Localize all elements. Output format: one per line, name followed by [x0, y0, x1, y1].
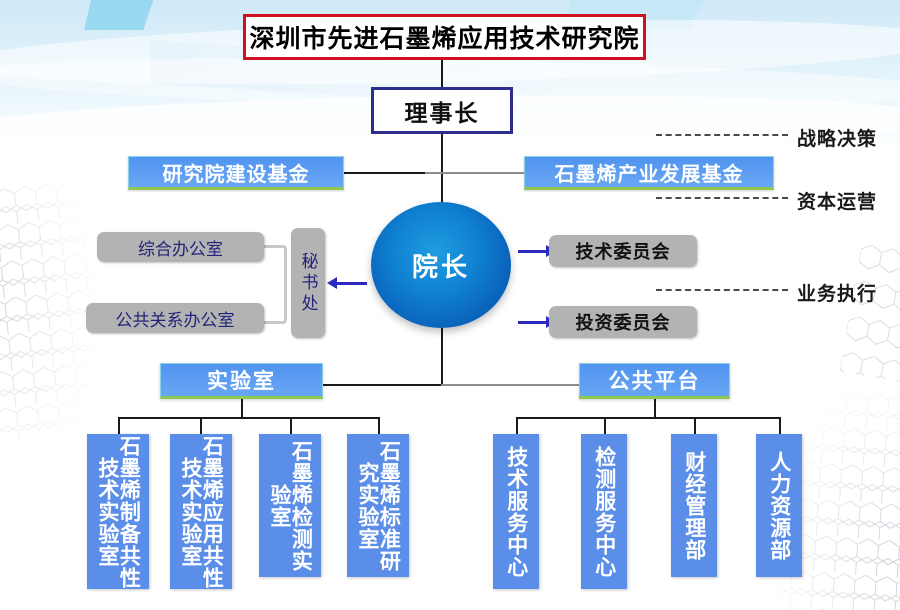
divider-strategy — [656, 134, 788, 136]
connector-dean-down — [441, 328, 443, 384]
node-secretariat[interactable]: 秘书处 — [291, 228, 325, 338]
connector-lab-child-4 — [378, 417, 380, 434]
label-capital-operation: 资本运营 — [797, 187, 877, 214]
connector-lab-child-2 — [200, 417, 202, 434]
node-laboratory[interactable]: 实验室 — [160, 363, 323, 399]
node-chairman[interactable]: 理事长 — [371, 87, 513, 134]
node-lab-unit-4[interactable]: 石墨烯标准研究实验室 — [347, 434, 409, 577]
node-platform-unit-3[interactable]: 财经管理部 — [671, 434, 717, 577]
connector-platform-stem — [654, 399, 656, 417]
connector-chairman-dean — [441, 134, 443, 204]
connector-platform-child-2 — [604, 417, 606, 434]
label-strategy-decision: 战略决策 — [797, 124, 877, 151]
node-investment-committee[interactable]: 投资委员会 — [549, 306, 697, 338]
node-graphene-industry-fund[interactable]: 石墨烯产业发展基金 — [524, 156, 774, 190]
node-dean[interactable]: 院长 — [371, 202, 511, 328]
node-public-relations-office[interactable]: 公共关系办公室 — [86, 303, 264, 333]
node-general-office[interactable]: 综合办公室 — [97, 232, 264, 262]
node-lab-unit-1[interactable]: 石墨烯制备共性技术实验室 — [87, 434, 149, 589]
connector-platform-child-1 — [516, 417, 518, 434]
connector-lab-child-1 — [118, 417, 120, 434]
node-lab-unit-3[interactable]: 石墨烯检测实验室 — [259, 434, 321, 577]
node-technical-committee[interactable]: 技术委员会 — [549, 235, 697, 267]
connector-title-chairman — [441, 60, 443, 87]
node-public-platform[interactable]: 公共平台 — [579, 363, 730, 399]
graphene-lattice-watermark-right-top — [839, 243, 900, 387]
node-lab-unit-2[interactable]: 石墨烯应用共性技术实验室 — [170, 434, 232, 589]
connector-lab-child-3 — [290, 417, 292, 434]
node-platform-unit-4[interactable]: 人力资源部 — [756, 434, 802, 577]
org-chart-slide: 深圳市先进石墨烯应用技术研究院 理事长 研究院建设基金 石墨烯产业发展基金 院长… — [0, 0, 900, 610]
node-institute-construction-fund[interactable]: 研究院建设基金 — [128, 156, 344, 190]
institute-title: 深圳市先进石墨烯应用技术研究院 — [243, 14, 646, 60]
connector-platform-child-3 — [694, 417, 696, 434]
node-platform-unit-1[interactable]: 技术服务中心 — [493, 434, 539, 589]
connector-fund-right-rail — [425, 172, 525, 174]
divider-capital — [656, 197, 788, 199]
connector-platform-rail — [516, 417, 779, 419]
connector-lab-rail — [118, 417, 378, 419]
connector-lab-stem — [241, 399, 243, 417]
bracket-offices — [262, 245, 287, 324]
connector-platform-child-4 — [779, 417, 781, 434]
divider-execution — [656, 289, 788, 291]
label-business-execution: 业务执行 — [797, 279, 877, 306]
node-platform-unit-2[interactable]: 检测服务中心 — [581, 434, 627, 589]
